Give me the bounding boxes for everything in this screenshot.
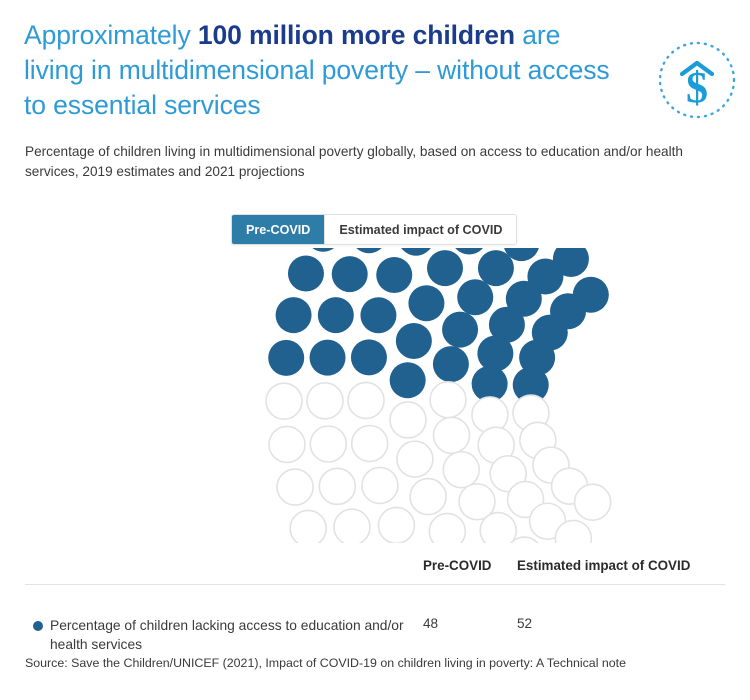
chart-dot-filled [351, 339, 387, 375]
dot-fan-chart [0, 248, 750, 543]
chart-dot-empty [378, 507, 414, 543]
dollar-home-icon: $ [655, 38, 739, 122]
value-pre-covid: 48 [423, 616, 438, 631]
chart-dot-filled [318, 297, 354, 333]
chart-dot-filled [396, 323, 432, 359]
column-header-estimated-impact: Estimated impact of COVID [517, 558, 690, 573]
chart-dot-filled [427, 250, 463, 286]
chart-dot-empty [480, 513, 516, 543]
chart-dot-filled [390, 362, 426, 398]
chart-dot-empty [429, 513, 465, 543]
svg-text:$: $ [686, 63, 708, 112]
chart-dot-empty [575, 484, 611, 520]
chart-dot-empty [390, 402, 426, 438]
chart-dot-empty [290, 510, 326, 543]
chart-dot-empty [348, 382, 384, 418]
table-header-row: Pre-COVID Estimated impact of COVID [25, 558, 725, 582]
dot-fan-svg [0, 248, 750, 543]
legend-table: Pre-COVID Estimated impact of COVID Perc… [25, 558, 725, 660]
chart-dot-filled [442, 312, 478, 348]
chart-dot-empty [352, 426, 388, 462]
source-note: Source: Save the Children/UNICEF (2021),… [25, 656, 725, 670]
chart-dot-filled [310, 340, 346, 376]
chart-dot-filled [360, 297, 396, 333]
chart-dot-empty [269, 426, 305, 462]
chart-dot-filled [288, 256, 324, 292]
chart-dot-filled [457, 279, 493, 315]
chart-dot-empty [310, 426, 346, 462]
chart-dot-filled [376, 257, 412, 293]
chart-dot-empty [430, 382, 466, 418]
header: Approximately 100 million more children … [0, 0, 750, 130]
chart-dot-empty [362, 467, 398, 503]
chart-dot-empty [266, 383, 302, 419]
chart-dot-empty [319, 468, 355, 504]
chart-dot-empty [410, 479, 446, 515]
table-row: Percentage of children lacking access to… [25, 616, 725, 660]
column-header-pre-covid: Pre-COVID [423, 558, 491, 573]
chart-dot-filled [477, 335, 513, 371]
chart-subtitle: Percentage of children living in multidi… [25, 142, 715, 182]
legend-swatch-icon [33, 621, 43, 631]
chart-tab-group: Pre-COVID Estimated impact of COVID [231, 214, 517, 245]
table-divider [25, 584, 725, 585]
tab-estimated-impact[interactable]: Estimated impact of COVID [325, 215, 516, 244]
chart-dot-filled [351, 248, 387, 253]
title-text-part1: Approximately [24, 20, 198, 50]
chart-dot-filled [332, 256, 368, 292]
value-estimated-impact: 52 [517, 616, 532, 631]
chart-dot-empty [443, 452, 479, 488]
chart-dot-empty [397, 441, 433, 477]
page-title: Approximately 100 million more children … [24, 18, 624, 123]
title-emphasis: 100 million more children [198, 20, 515, 50]
chart-dot-filled [305, 248, 341, 252]
tab-pre-covid[interactable]: Pre-COVID [232, 215, 325, 244]
chart-dot-filled [433, 346, 469, 382]
chart-dot-empty [334, 509, 370, 543]
chart-dot-filled [408, 285, 444, 321]
chart-dot-filled [276, 297, 312, 333]
legend-row-label: Percentage of children lacking access to… [50, 616, 420, 654]
chart-dot-empty [307, 383, 343, 419]
chart-dot-filled [268, 340, 304, 376]
chart-dot-filled [398, 248, 434, 256]
chart-dot-empty [277, 469, 313, 505]
chart-dot-empty [472, 397, 508, 433]
chart-dot-empty [434, 417, 470, 453]
chart-dot-filled [451, 248, 487, 255]
chart-dot-filled [478, 250, 514, 286]
